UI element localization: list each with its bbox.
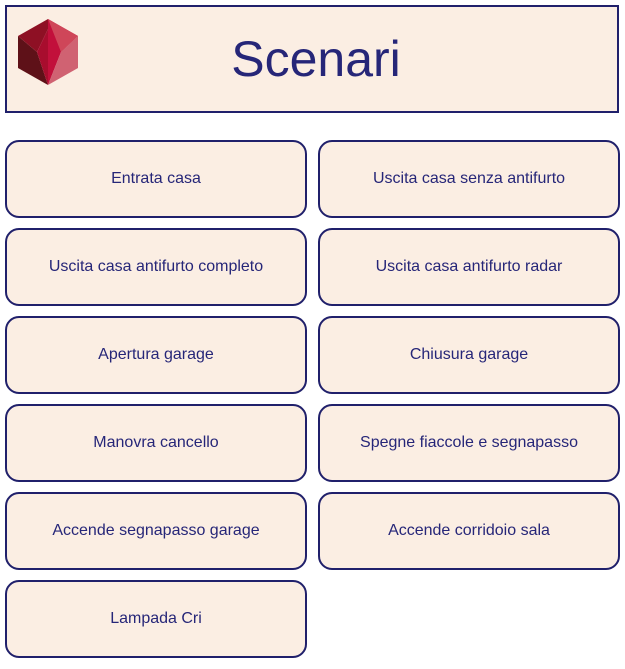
- scenario-spegne-fiaccole-e-segnapasso[interactable]: Spegne fiaccole e segnapasso: [318, 404, 620, 482]
- scenario-row: Apertura garage Chiusura garage: [0, 316, 625, 394]
- page-header: Scenari: [5, 5, 619, 113]
- scenario-uscita-casa-antifurto-completo[interactable]: Uscita casa antifurto completo: [5, 228, 307, 306]
- scenario-lampada-cri[interactable]: Lampada Cri: [5, 580, 307, 658]
- page-title: Scenari: [7, 34, 617, 84]
- scenario-row: Uscita casa antifurto completo Uscita ca…: [0, 228, 625, 306]
- scenari-page: Scenari Entrata casa Uscita casa senza a…: [0, 0, 625, 669]
- scenario-row: Lampada Cri: [0, 580, 625, 658]
- scenario-accende-segnapasso-garage[interactable]: Accende segnapasso garage: [5, 492, 307, 570]
- scenario-entrata-casa[interactable]: Entrata casa: [5, 140, 307, 218]
- ruby-gem-icon: [17, 19, 79, 85]
- scenario-row: Accende segnapasso garage Accende corrid…: [0, 492, 625, 570]
- scenario-apertura-garage[interactable]: Apertura garage: [5, 316, 307, 394]
- scenario-grid: Entrata casa Uscita casa senza antifurto…: [0, 140, 625, 668]
- scenario-manovra-cancello[interactable]: Manovra cancello: [5, 404, 307, 482]
- scenario-row: Entrata casa Uscita casa senza antifurto: [0, 140, 625, 218]
- scenario-uscita-casa-senza-antifurto[interactable]: Uscita casa senza antifurto: [318, 140, 620, 218]
- scenario-uscita-casa-antifurto-radar[interactable]: Uscita casa antifurto radar: [318, 228, 620, 306]
- scenario-accende-corridoio-sala[interactable]: Accende corridoio sala: [318, 492, 620, 570]
- scenario-row: Manovra cancello Spegne fiaccole e segna…: [0, 404, 625, 482]
- scenario-chiusura-garage[interactable]: Chiusura garage: [318, 316, 620, 394]
